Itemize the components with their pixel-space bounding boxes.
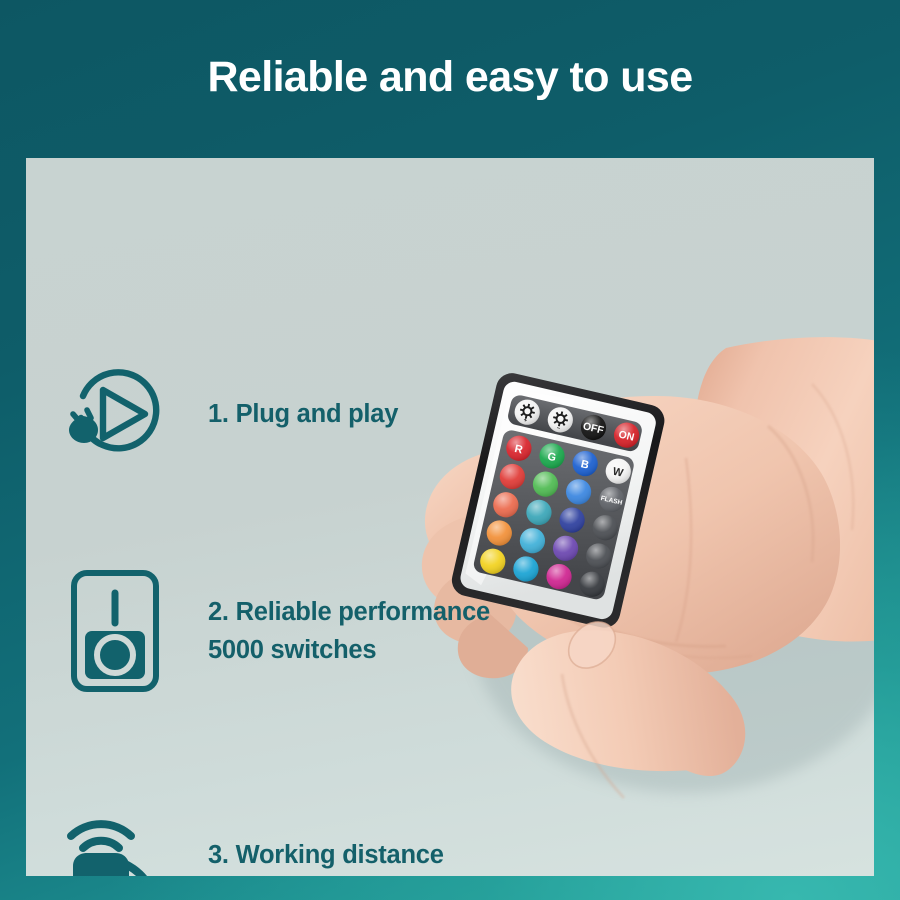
remote-row-6 bbox=[478, 546, 608, 599]
remote-row-1: + – OFF ON bbox=[512, 397, 642, 450]
content-panel: + – OFF ON bbox=[26, 158, 874, 876]
feature-2-texts: 2. Reliable performance 5000 switches bbox=[208, 598, 490, 664]
feature-item-plug-and-play: 1. Plug and play bbox=[56, 353, 398, 475]
svg-text:+: + bbox=[523, 418, 528, 425]
remote-row-2: R G B W bbox=[504, 433, 634, 486]
feature-3-texts: 3. Working distance 4m and 45° coverage bbox=[208, 841, 457, 876]
feature-2-line-2: 5000 switches bbox=[208, 636, 490, 665]
svg-text:W: W bbox=[612, 466, 625, 480]
svg-text:–: – bbox=[556, 425, 561, 432]
svg-text:B: B bbox=[580, 458, 590, 471]
feature-1-line-1: 1. Plug and play bbox=[208, 400, 398, 429]
brightness-down-icon bbox=[552, 410, 570, 428]
remote-row-4 bbox=[491, 490, 621, 543]
feature-3-line-1: 3. Working distance bbox=[208, 841, 457, 870]
feature-item-reliable-performance: 2. Reliable performance 5000 switches bbox=[56, 570, 490, 692]
svg-text:R: R bbox=[513, 443, 523, 456]
brightness-up-icon bbox=[518, 402, 536, 420]
title-bar: Reliable and easy to use bbox=[0, 0, 900, 155]
remote-row-5 bbox=[484, 518, 614, 571]
remote-row-3: FLASH bbox=[497, 461, 627, 514]
remote-signal-icon bbox=[56, 813, 174, 876]
svg-text:ON: ON bbox=[617, 429, 635, 444]
plug-play-icon bbox=[56, 353, 174, 475]
feature-1-texts: 1. Plug and play bbox=[208, 400, 398, 429]
rocker-switch-icon bbox=[56, 570, 174, 692]
feature-2-line-1: 2. Reliable performance bbox=[208, 598, 490, 627]
svg-text:G: G bbox=[546, 451, 557, 465]
svg-text:FLASH: FLASH bbox=[600, 495, 623, 507]
page-title: Reliable and easy to use bbox=[207, 53, 692, 102]
hand-holding-remote-photo: + – OFF ON bbox=[26, 158, 874, 876]
svg-text:OFF: OFF bbox=[582, 420, 606, 437]
feature-item-working-distance: 3. Working distance 4m and 45° coverage bbox=[56, 813, 457, 876]
